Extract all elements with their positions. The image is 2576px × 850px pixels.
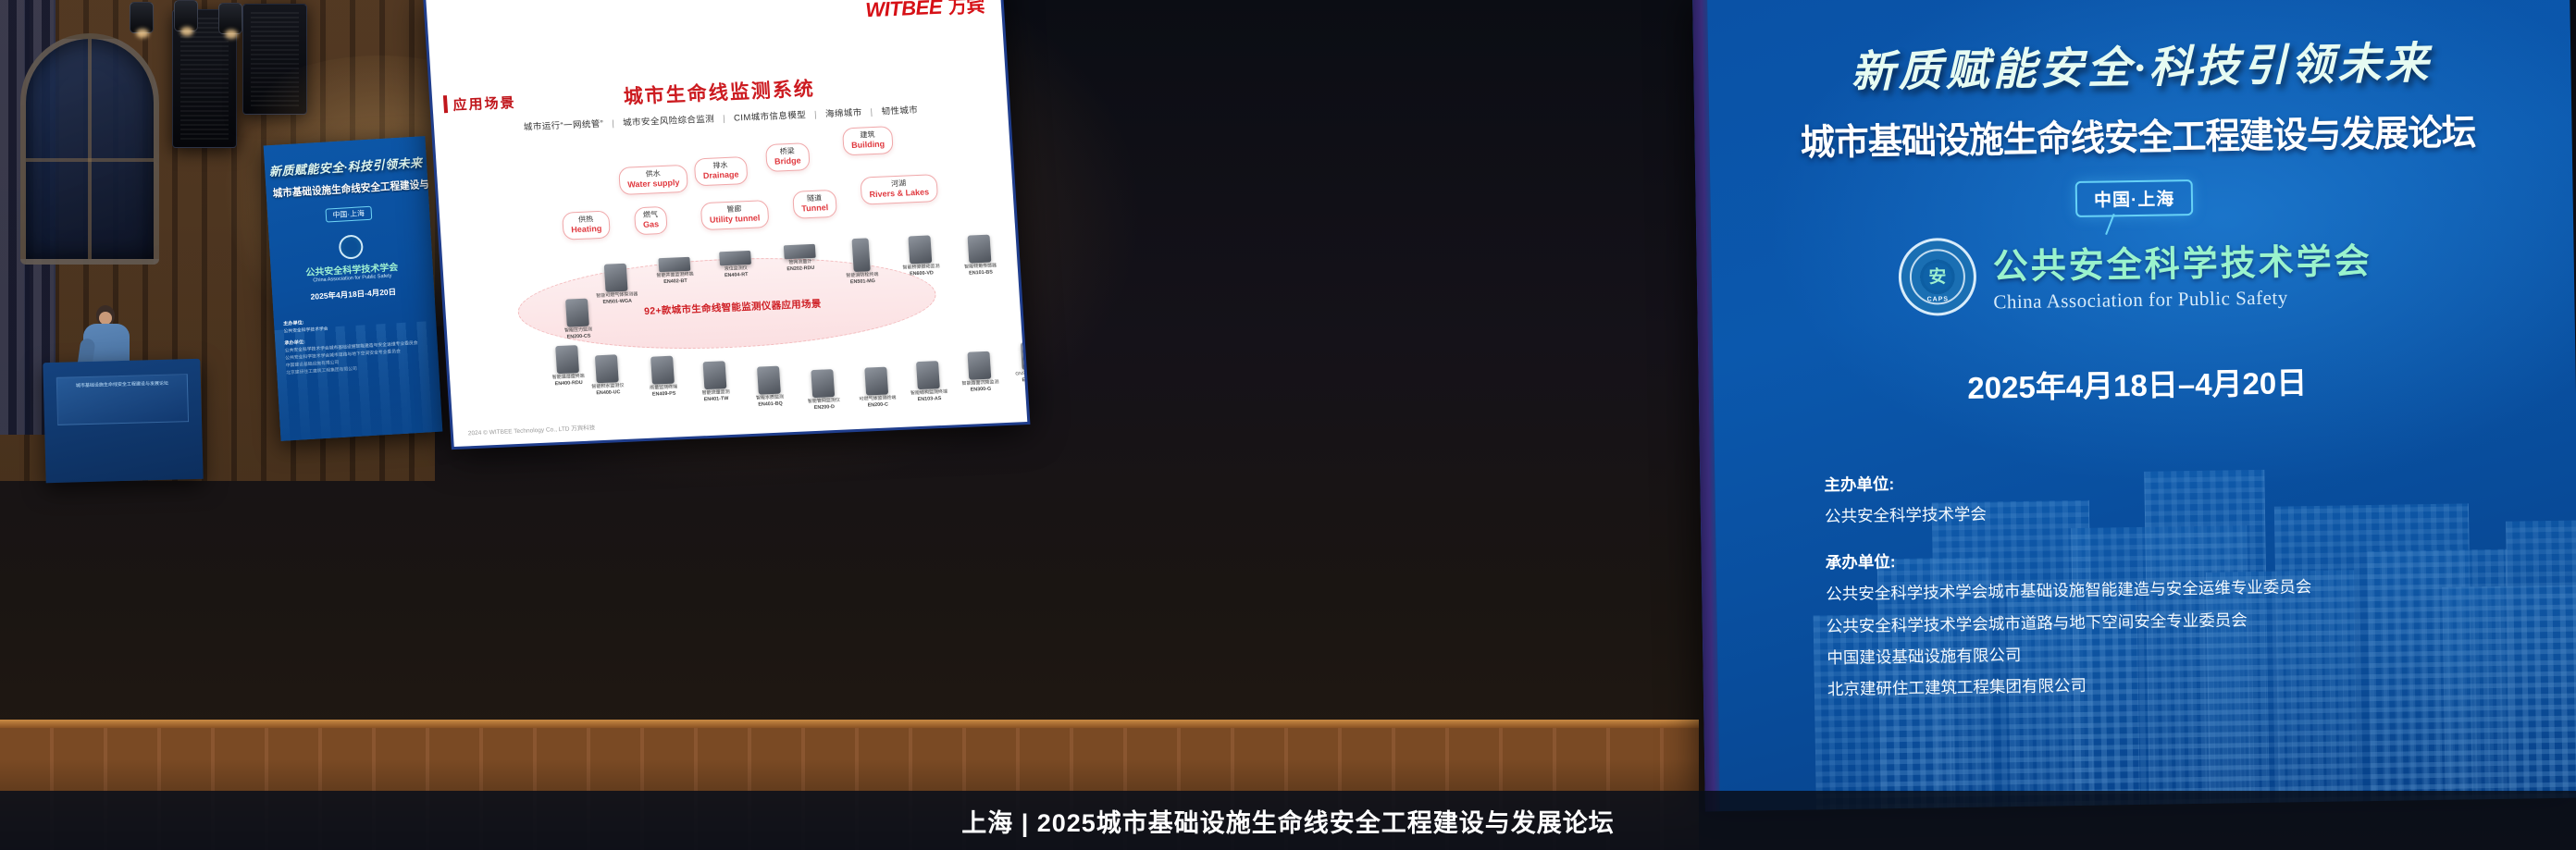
podium-branding-panel: 城市基础设施生命线安全工程建设与发展论坛 (56, 374, 189, 425)
banner-date: 2025年4月18日–4月20日 (1698, 354, 2576, 413)
banner-association-cn: 公共安全科学技术学会 (1992, 232, 2372, 289)
banner-organizer-block: 主办单位: 公共安全科学技术学会 承办单位: 公共安全科学技术学会城市基础设施智… (1824, 458, 2544, 705)
banner-slogan: 新质赋能安全·科技引领未来 (1730, 25, 2553, 102)
device-icon (784, 244, 816, 259)
device-item: 智能桥梁振动监测EN600-VD (897, 235, 944, 277)
device-model-code: EN700-MW (1024, 320, 1027, 327)
stage-lamp (218, 3, 242, 34)
device-item: 智能倾角传感器EN101-BS (957, 234, 1004, 277)
banner-association-block: 安 CAPS 公共安全科学技术学会 China Association for … (1696, 228, 2574, 320)
device-item: 雨量监测终端EN409-PS (639, 355, 687, 398)
device-item: 管网流量计EN202-RDU (777, 244, 824, 273)
device-icon (703, 361, 727, 389)
device-item: 多功能气象仪EN700-MW (1022, 290, 1027, 327)
device-icon (565, 299, 589, 327)
podium-branding-text: 城市基础设施生命线安全工程建设与发展论坛 (57, 380, 187, 390)
projection-screen: WITBEE 万宾 应用场景 城市生命线监测系统 城市运行“一网统管” | 城市… (426, 0, 1027, 447)
device-item: 智能流量监测EN401-TW (692, 361, 739, 403)
device-icon (555, 345, 579, 374)
mini-banner-slogan: 新质赋能安全·科技引领未来 (265, 153, 427, 179)
banner-association-en: China Association for Public Safety (1993, 285, 2372, 314)
device-icon (811, 369, 835, 398)
device-icon (719, 251, 751, 265)
device-model-code: EN409-PS (641, 390, 686, 398)
device-icon (1021, 341, 1027, 370)
device-icon (595, 354, 619, 383)
device-icon (757, 366, 781, 395)
event-backdrop-banner: 新质赋能安全·科技引领未来 城市基础设施生命线安全工程建设与发展论坛 中国·上海… (1692, 0, 2576, 811)
mini-banner-city-tag: 中国·上海 (325, 206, 372, 223)
device-item: 可燃气体监测终端EN200-C (853, 366, 900, 409)
device-item: 智能消防栓终端EN501-MG (838, 238, 885, 286)
device-model-code: EN202-RDU (778, 265, 823, 272)
device-item: 智能管网监测仪EN200-D (799, 369, 847, 412)
seal-abbreviation: CAPS (1901, 296, 1974, 303)
venue-arch-window (20, 33, 159, 265)
device-model-code: EN200-CS (556, 333, 601, 340)
device-item: 噪声传感器EN100-C (1007, 238, 1027, 280)
stage-side-banner: 新质赋能安全·科技引领未来 城市基础设施生命线安全工程建设与发展论坛 中国·上海… (264, 136, 443, 441)
mini-banner-date: 2025年4月18日-4月20日 (272, 284, 434, 304)
podium: 城市基础设施生命线安全工程建设与发展论坛 (43, 359, 203, 483)
device-icon (650, 356, 675, 385)
stage-lamp (130, 2, 154, 33)
device-label-cn: 多功能气象仪 (1024, 314, 1027, 322)
mini-banner-skyline-graphic (275, 321, 443, 441)
seal-glyph: 安 (1928, 263, 1946, 288)
device-item: GNSS位移一体机EN303-HS (1009, 341, 1027, 384)
device-icon (1018, 238, 1027, 266)
presentation-slide: WITBEE 万宾 应用场景 城市生命线监测系统 城市运行“一网统管” | 城市… (426, 0, 1027, 447)
presenter-face (99, 312, 112, 325)
device-icon (916, 361, 940, 389)
mini-banner-forum-title: 城市基础设施生命线安全工程建设与发展论坛 (272, 177, 422, 201)
device-item: 液位监测仪EN404-RT (712, 251, 759, 279)
conference-stage-scene: 城市基础设施生命线安全工程建设与发展论坛 新质赋能安全·科技引领未来 城市基础设… (0, 0, 2576, 850)
device-item: 智能结构监测终端EN103-AS (905, 361, 952, 403)
device-icon (864, 367, 888, 396)
banner-association-text: 公共安全科学技术学会 China Association for Public … (1992, 232, 2372, 314)
caption-text: 上海 | 2025城市基础设施生命线安全工程建设与发展论坛 (961, 803, 1615, 839)
caps-seal-icon: 安 CAPS (1898, 238, 1976, 316)
device-model-code: EN401-BQ (748, 400, 792, 408)
device-icon (968, 235, 992, 264)
device-item: 智能可燃气体探测器EN501-WGA (593, 263, 640, 305)
device-item: 智能路面沉降监测EN300-G (956, 351, 1003, 393)
banner-forum-title: 城市基础设施生命线安全工程建设与发展论坛 (1730, 103, 2546, 167)
device-model-code: EN401-TW (694, 395, 738, 402)
device-icon (908, 235, 932, 264)
device-item: 智能压力监测EN200-CS (554, 298, 601, 340)
device-icon (967, 351, 991, 380)
stage-floor-edge (0, 720, 1699, 728)
stage-lamp (174, 0, 198, 31)
device-icon (604, 264, 628, 292)
device-model-code: EN100-C (1009, 272, 1027, 279)
device-icon (851, 238, 870, 272)
device-model-code: EN404-RT (714, 271, 759, 278)
caps-seal-icon (338, 234, 363, 259)
device-label-cn: GNSS位移一体机 (1011, 371, 1027, 378)
device-model-code: EN501-WGA (595, 298, 639, 305)
device-item: 智能井盖监测终端EN402-BT (651, 256, 698, 285)
device-icon (658, 257, 690, 272)
mini-banner-association: 公共安全科学技术学会 China Association for Public … (269, 230, 434, 286)
device-item: 智能水质监测EN401-BQ (746, 365, 793, 408)
device-item: 智能积水监测仪EN400-UC (584, 354, 631, 397)
video-caption-bar: 上海 | 2025城市基础设施生命线安全工程建设与发展论坛 (0, 791, 2576, 850)
device-icon-group: 智能可燃气体探测器EN501-WGA智能井盖监测终端EN402-BT液位监测仪E… (426, 0, 1027, 447)
banner-city-tag: 中国·上海 (2075, 179, 2194, 217)
